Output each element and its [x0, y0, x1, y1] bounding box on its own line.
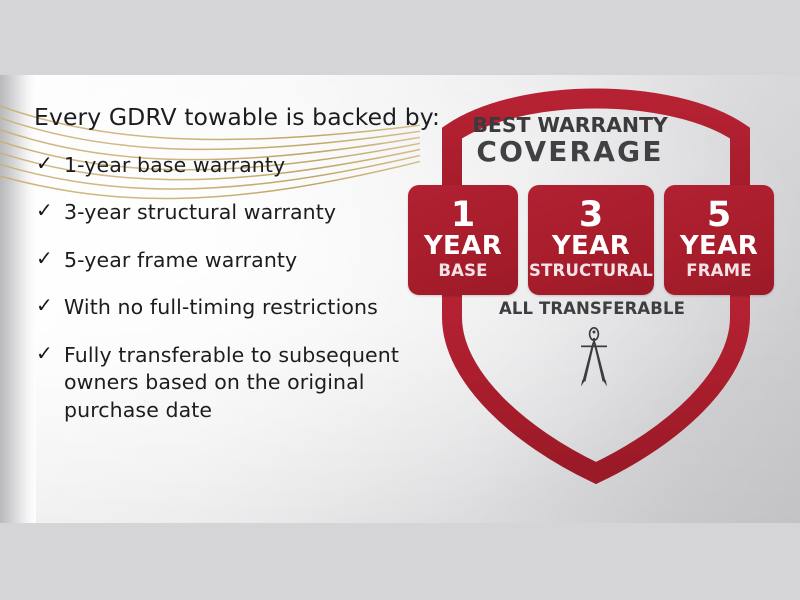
check-icon: ✓ [36, 197, 53, 224]
chip-label: BASE [438, 263, 487, 280]
shield-icon [400, 81, 800, 513]
chip-label: FRAME [686, 263, 751, 280]
list-item: ✓ 3-year structural warranty [34, 199, 434, 226]
page-title: Every GDRV towable is backed by: [34, 103, 434, 131]
list-item-label: Fully transferable to subsequent owners … [64, 343, 399, 422]
chip-unit: YEAR [424, 233, 502, 259]
chip-unit: YEAR [680, 233, 758, 259]
warranty-chip-structural: 3 YEAR STRUCTURAL [528, 185, 654, 295]
warranty-chip-base: 1 YEAR BASE [408, 185, 518, 295]
warranty-chip-group: 1 YEAR BASE 3 YEAR STRUCTURAL 5 YEAR FRA… [408, 185, 784, 295]
warranty-chip-frame: 5 YEAR FRAME [664, 185, 774, 295]
list-item-label: 5-year frame warranty [64, 248, 297, 272]
chip-number: 1 [451, 199, 475, 232]
list-item: ✓ 1-year base warranty [34, 152, 434, 179]
page-curl-gradient [0, 75, 36, 523]
list-item: ✓ With no full-timing restrictions [34, 294, 434, 321]
check-icon: ✓ [36, 150, 53, 177]
chip-number: 5 [707, 199, 731, 232]
list-item-label: With no full-timing restrictions [64, 295, 378, 319]
chip-number: 3 [579, 199, 603, 232]
warranty-graphic: Every GDRV towable is backed by: ✓ 1-yea… [0, 75, 800, 523]
list-item-label: 3-year structural warranty [64, 200, 336, 224]
copy-column: Every GDRV towable is backed by: ✓ 1-yea… [34, 103, 434, 444]
check-icon: ✓ [36, 245, 53, 272]
screenshot-stage: Every GDRV towable is backed by: ✓ 1-yea… [0, 0, 800, 600]
chip-unit: YEAR [552, 233, 630, 259]
warranty-bullet-list: ✓ 1-year base warranty ✓ 3-year structur… [34, 152, 434, 424]
list-item: ✓ Fully transferable to subsequent owner… [34, 342, 434, 424]
check-icon: ✓ [36, 292, 53, 319]
warranty-badge: BEST WARRANTY COVERAGE 1 YEAR BASE 3 YEA… [400, 81, 800, 513]
chip-label: STRUCTURAL [529, 263, 653, 280]
list-item-label: 1-year base warranty [64, 153, 285, 177]
list-item: ✓ 5-year frame warranty [34, 247, 434, 274]
check-icon: ✓ [36, 340, 53, 367]
